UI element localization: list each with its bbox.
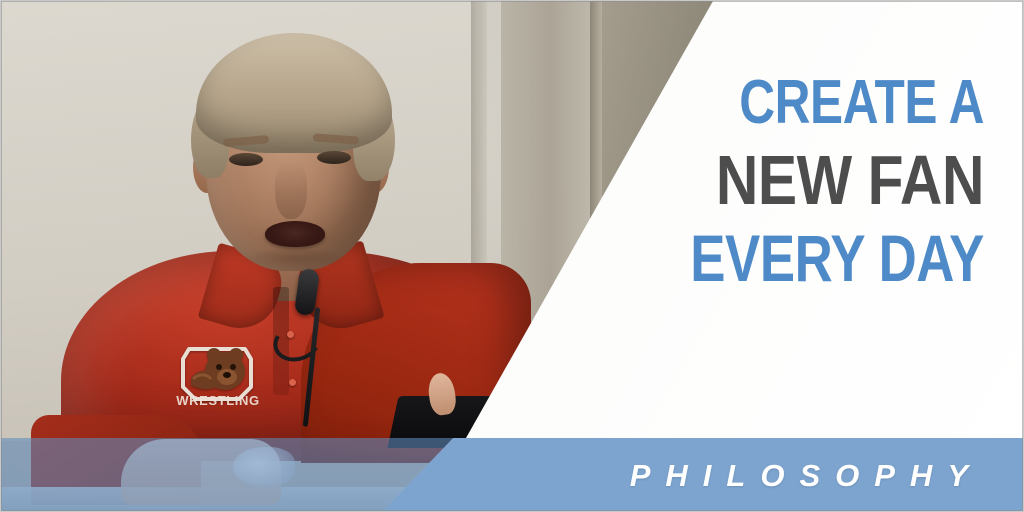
speaker-eye-left bbox=[229, 153, 263, 166]
speaker-nose bbox=[275, 161, 307, 219]
title-card-slide: WRESTLING CREATE A NEW FAN EVERY DAY PHI… bbox=[0, 0, 1024, 512]
shirt-logo-text: WRESTLING bbox=[165, 393, 271, 408]
polo-button-bottom bbox=[289, 379, 296, 386]
headline-line-2: NEW FAN bbox=[631, 146, 984, 215]
headline-line-3: EVERY DAY bbox=[648, 226, 984, 291]
banner-label: PHILOSOPHY bbox=[615, 458, 983, 494]
banner-label-wrapper: PHILOSOPHY bbox=[1, 438, 1024, 512]
speaker-chin-shadow bbox=[241, 247, 351, 269]
headline-block: CREATE A NEW FAN EVERY DAY bbox=[564, 73, 984, 291]
speaker-eye-right bbox=[317, 151, 351, 164]
headline-line-1: CREATE A bbox=[648, 73, 984, 134]
speaker-mouth bbox=[265, 221, 325, 247]
